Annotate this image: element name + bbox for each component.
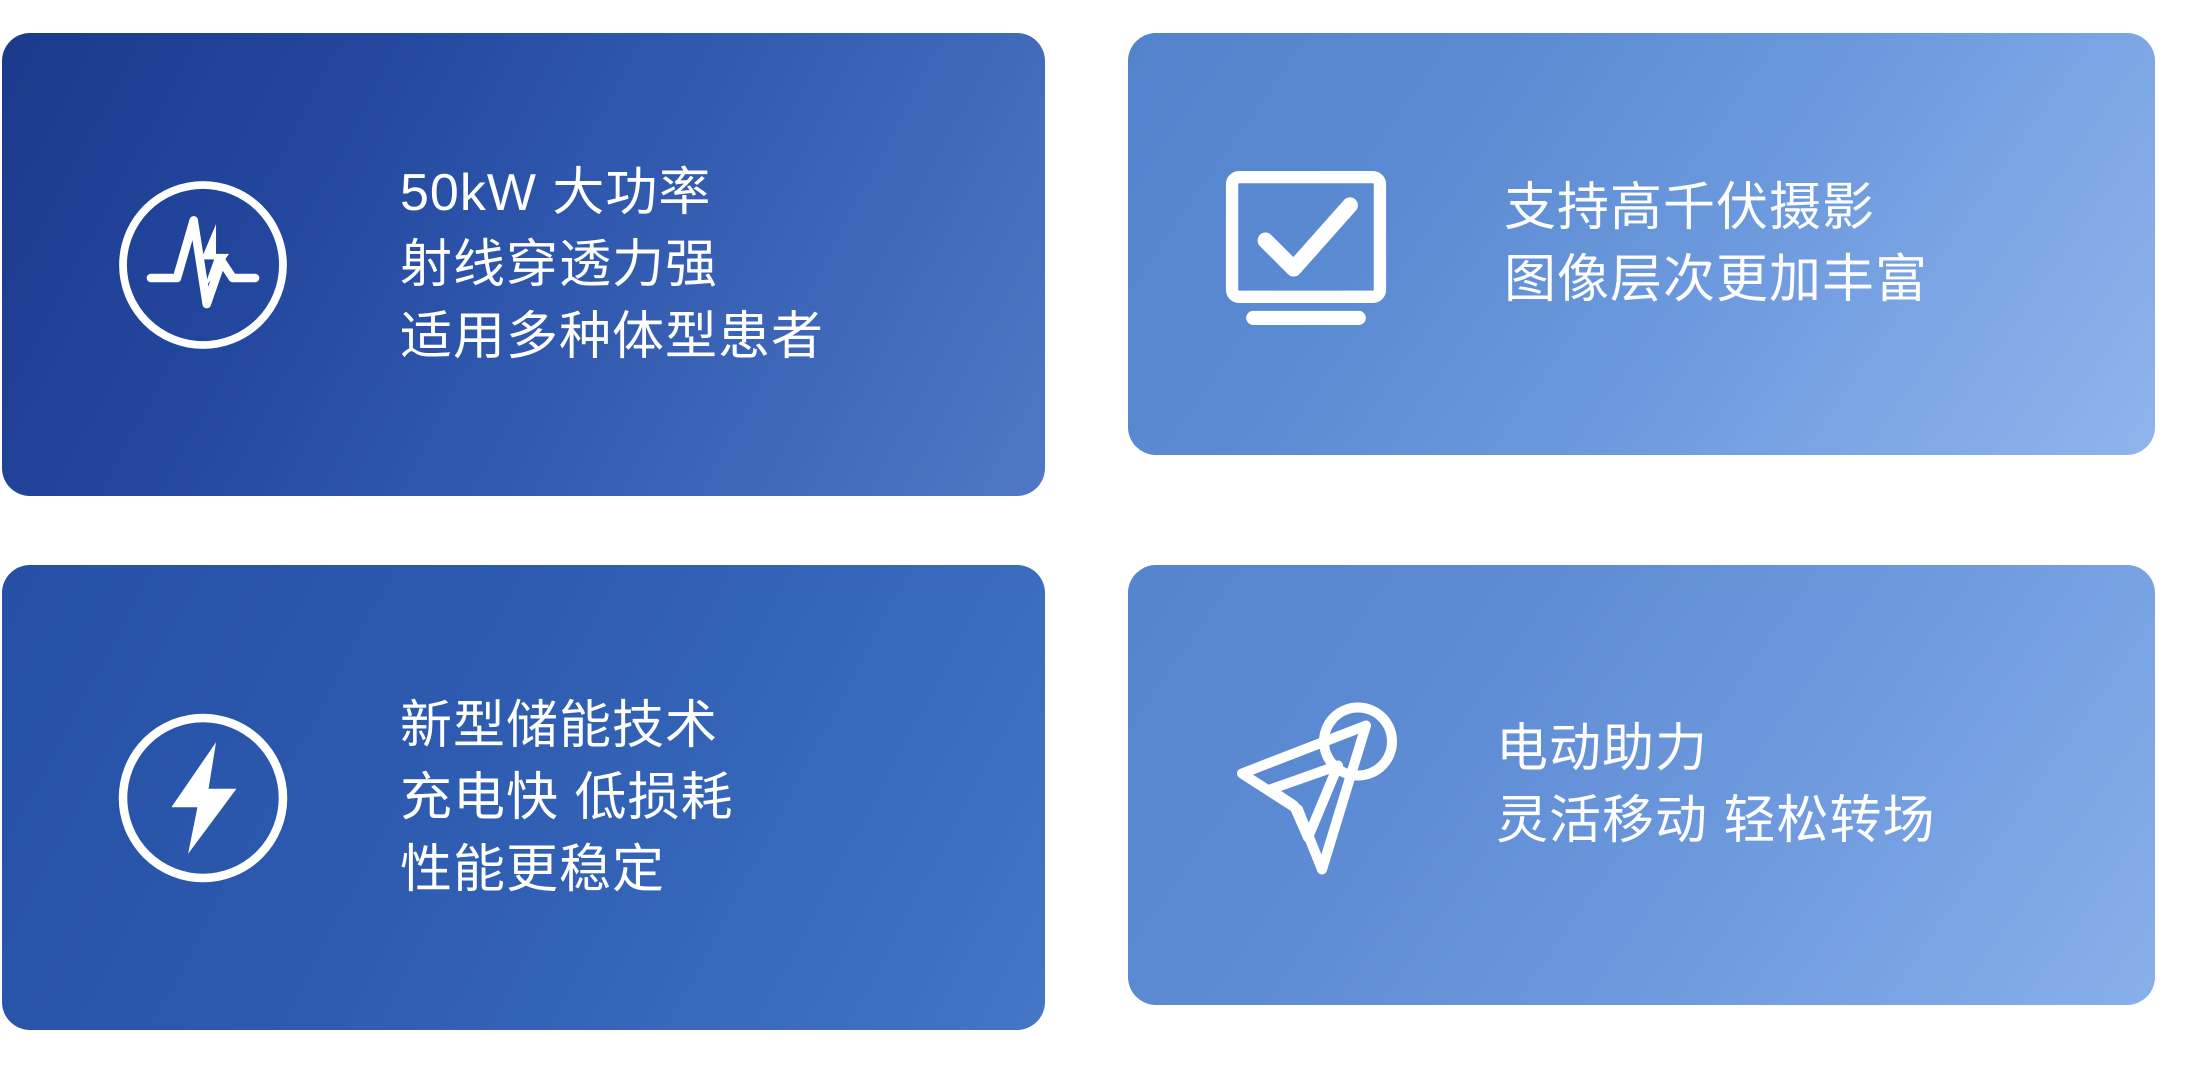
- card-text: 支持高千伏摄影 图像层次更加丰富: [1504, 172, 2155, 316]
- card-line: 电动助力: [1496, 713, 2155, 785]
- card-line: 射线穿透力强: [400, 229, 1045, 301]
- card-text: 新型储能技术 充电快 低损耗 性能更稳定: [400, 690, 1045, 906]
- feature-card-energy-storage[interactable]: 新型储能技术 充电快 低损耗 性能更稳定: [2, 565, 1045, 1030]
- monitor-check-icon: [1218, 156, 1394, 332]
- card-line: 灵活移动 轻松转场: [1496, 785, 2155, 857]
- feature-card-high-kv-imaging[interactable]: 支持高千伏摄影 图像层次更加丰富: [1128, 33, 2155, 455]
- bolt-circle-icon: [110, 705, 296, 891]
- card-content: 新型储能技术 充电快 低损耗 性能更稳定: [110, 690, 1045, 906]
- card-line: 支持高千伏摄影: [1504, 172, 2155, 244]
- pulse-bolt-circle-icon: [110, 172, 296, 358]
- card-line: 适用多种体型患者: [400, 301, 1045, 373]
- feature-card-grid: 50kW 大功率 射线穿透力强 适用多种体型患者 支持高千伏摄影 图像层次更加丰…: [0, 0, 2187, 1068]
- card-line: 充电快 低损耗: [400, 762, 1045, 834]
- card-line: 性能更稳定: [400, 834, 1045, 906]
- card-content: 50kW 大功率 射线穿透力强 适用多种体型患者: [110, 157, 1045, 373]
- card-content: 支持高千伏摄影 图像层次更加丰富: [1218, 156, 2155, 332]
- feature-card-high-power[interactable]: 50kW 大功率 射线穿透力强 适用多种体型患者: [2, 33, 1045, 496]
- card-content: 电动助力 灵活移动 轻松转场: [1218, 683, 2155, 888]
- card-text: 电动助力 灵活移动 轻松转场: [1496, 713, 2155, 857]
- feature-card-electric-assist[interactable]: 电动助力 灵活移动 轻松转场: [1128, 565, 2155, 1005]
- card-text: 50kW 大功率 射线穿透力强 适用多种体型患者: [400, 157, 1045, 373]
- card-line: 50kW 大功率: [400, 157, 1045, 229]
- card-line: 新型储能技术: [400, 690, 1045, 762]
- cursor-click-icon: [1218, 683, 1418, 888]
- card-line: 图像层次更加丰富: [1504, 244, 2155, 316]
